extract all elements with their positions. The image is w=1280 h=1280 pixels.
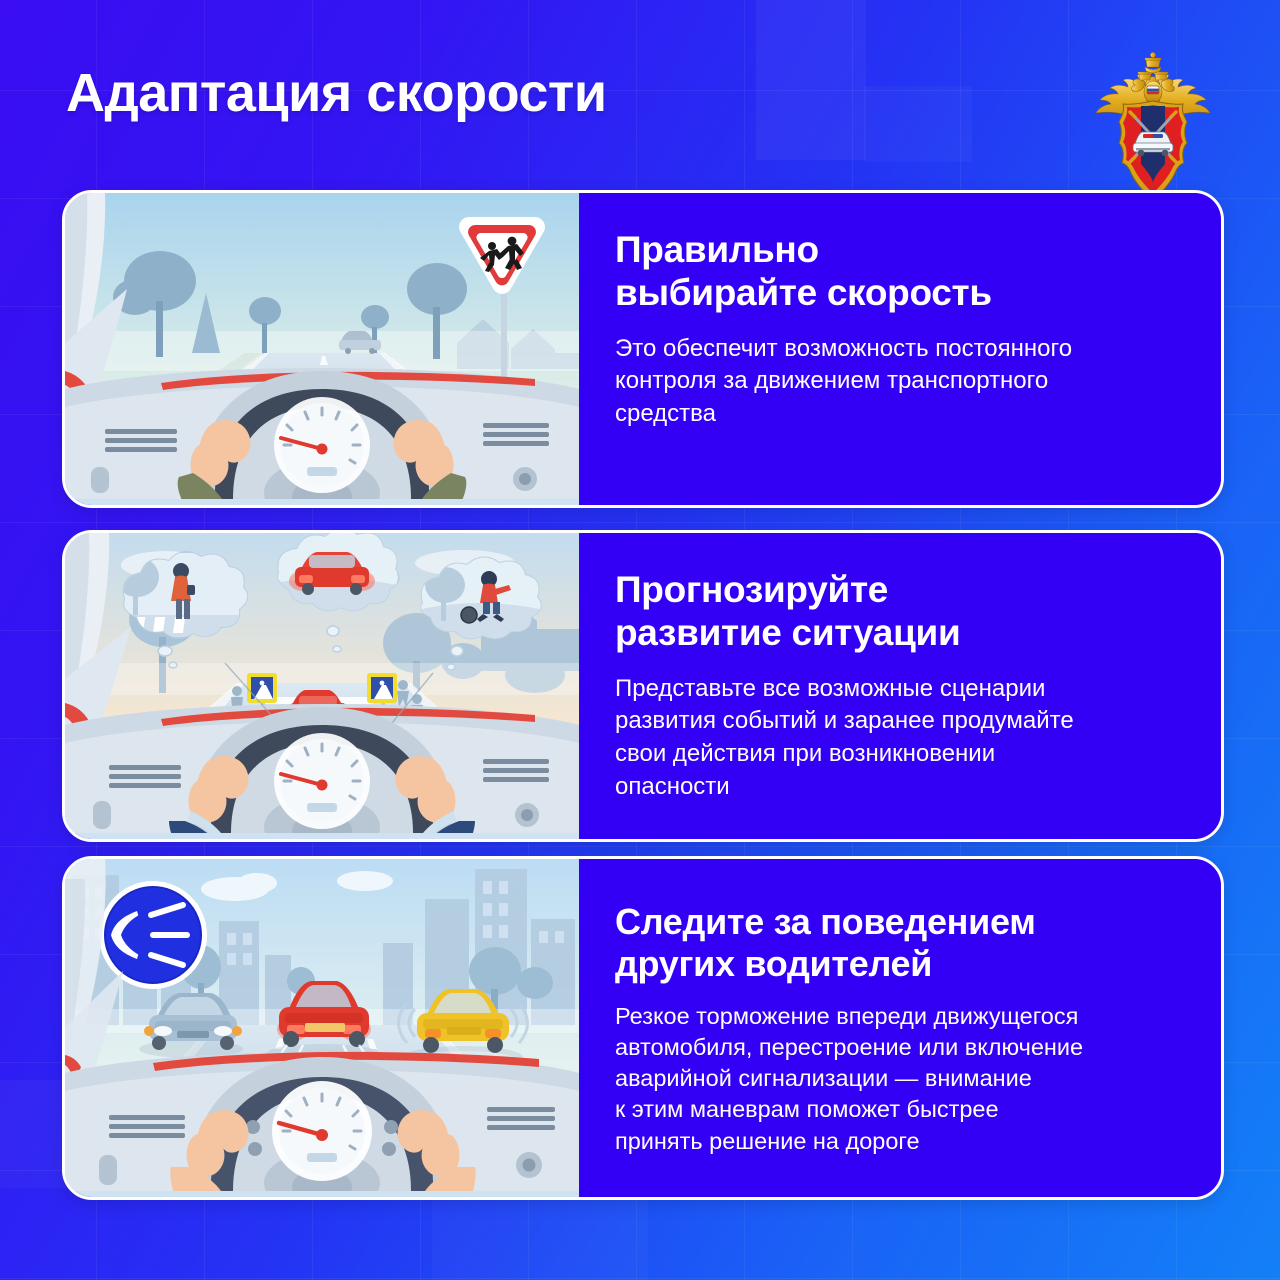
card-body: Резкое торможение впереди движущегося ав…	[615, 1001, 1187, 1157]
card-heading: Следите за поведением других водителей	[615, 901, 1187, 985]
poster-root: Адаптация скорости	[0, 0, 1280, 1280]
background-patch	[756, 0, 866, 160]
card-watch-other-drivers: Следите за поведением других водителей Р…	[62, 856, 1224, 1200]
illustration-driver-view-with-thought-bubbles	[65, 533, 579, 839]
card-heading: Правильно выбирайте скорость	[615, 229, 1187, 315]
illustration-driver-view-with-children-crossing-sign	[65, 193, 579, 505]
background-patch	[864, 86, 972, 162]
card-body: Это обеспечит возможность постоянного ко…	[615, 333, 1187, 431]
low-beam-headlights-sign	[99, 881, 207, 989]
card-speed-choice: Правильно выбирайте скорость Это обеспеч…	[62, 190, 1224, 508]
card-text-panel: Следите за поведением других водителей Р…	[579, 859, 1221, 1197]
card-body: Представьте все возможные сценарии разви…	[615, 673, 1187, 804]
card-text-panel: Правильно выбирайте скорость Это обеспеч…	[579, 193, 1221, 505]
card-predict-situation: Прогнозируйте развитие ситуации Представ…	[62, 530, 1224, 842]
illustration-city-road-with-three-cars	[65, 859, 579, 1197]
background-patch	[432, 1188, 648, 1280]
card-heading: Прогнозируйте развитие ситуации	[615, 569, 1187, 655]
page-title: Адаптация скорости	[66, 62, 607, 124]
card-text-panel: Прогнозируйте развитие ситуации Представ…	[579, 533, 1221, 839]
